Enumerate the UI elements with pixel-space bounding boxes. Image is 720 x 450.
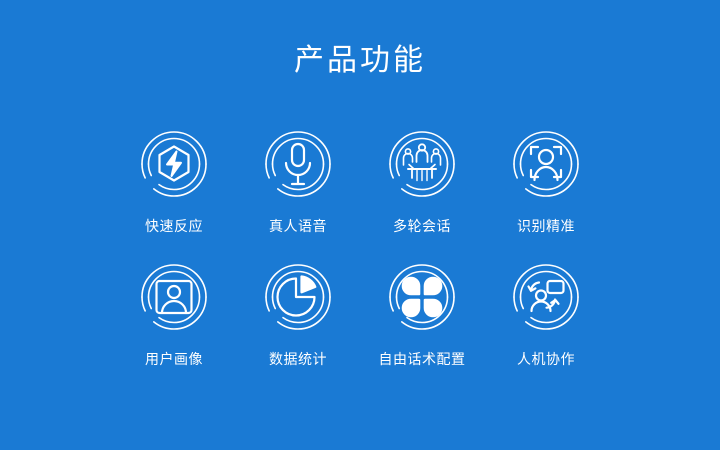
feature-item-accurate-recognition[interactable]: 识别精准 [490, 118, 602, 233]
feature-item-real-voice[interactable]: 真人语音 [242, 118, 354, 233]
feature-item-user-profile[interactable]: 用户画像 [118, 251, 230, 366]
feature-label: 多轮会话 [393, 219, 451, 233]
feature-item-fast-response[interactable]: 快速反应 [118, 118, 230, 233]
feature-item-human-machine-collaboration[interactable]: 人机协作 [490, 251, 602, 366]
feature-label: 识别精准 [517, 219, 575, 233]
slide-canvas: 产品功能 快速反应 [0, 0, 720, 450]
feature-label: 人机协作 [517, 352, 575, 366]
feature-label: 数据统计 [269, 352, 327, 366]
feature-grid: 快速反应 真人语音 [118, 118, 602, 366]
page-title: 产品功能 [0, 46, 720, 76]
feature-label: 自由话术配置 [379, 352, 466, 366]
feature-item-free-script-config[interactable]: 自由话术配置 [366, 251, 478, 366]
feature-row-1: 快速反应 真人语音 [118, 118, 602, 233]
four-petals-grid-icon [376, 251, 468, 343]
lightning-hexagon-icon [128, 118, 220, 210]
user-portrait-frame-icon [128, 251, 220, 343]
pie-chart-icon [252, 251, 344, 343]
feature-item-data-statistics[interactable]: 数据统计 [242, 251, 354, 366]
feature-item-multi-turn-dialogue[interactable]: 多轮会话 [366, 118, 478, 233]
human-machine-collaboration-icon [500, 251, 592, 343]
microphone-icon [252, 118, 344, 210]
face-scan-icon [500, 118, 592, 210]
feature-label: 快速反应 [145, 219, 203, 233]
feature-label: 用户画像 [145, 352, 203, 366]
feature-row-2: 用户画像 数据统计 [118, 251, 602, 366]
feature-label: 真人语音 [269, 219, 327, 233]
people-meeting-icon [376, 118, 468, 210]
